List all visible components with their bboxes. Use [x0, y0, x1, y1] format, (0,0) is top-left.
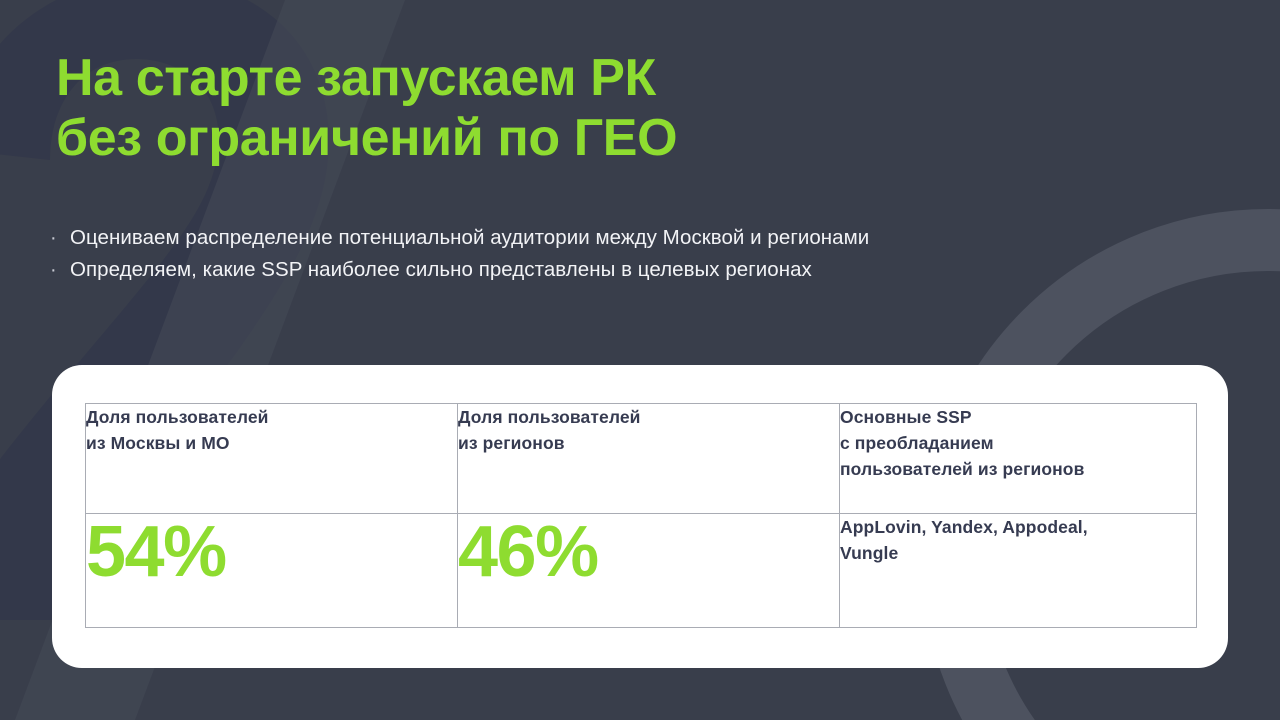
- stats-card: Доля пользователей из Москвы и МО Доля п…: [52, 365, 1228, 668]
- bullet-dot-icon: ·: [50, 254, 70, 286]
- list-item: · Определяем, какие SSP наиболее сильно …: [50, 254, 1210, 286]
- bullet-dot-icon: ·: [50, 222, 70, 254]
- stat-value-regions: 46%: [458, 514, 839, 590]
- list-item-label: Оцениваем распределение потенциальной ау…: [70, 222, 1210, 254]
- stats-table: Доля пользователей из Москвы и МО Доля п…: [85, 403, 1197, 628]
- table-row: 54% 46% AppLovin, Yandex, Appodeal, Vung…: [86, 514, 1197, 628]
- table-header-cell-main-ssp: Основные SSP с преобладанием пользовател…: [840, 404, 1197, 514]
- table-cell-moscow-share-value: 54%: [86, 514, 458, 628]
- column-header-label: Доля пользователей из регионов: [458, 404, 839, 456]
- table-cell-regions-share-value: 46%: [458, 514, 840, 628]
- ssp-list-label: AppLovin, Yandex, Appodeal, Vungle: [840, 514, 1196, 566]
- column-header-label: Основные SSP с преобладанием пользовател…: [840, 404, 1196, 482]
- table-cell-ssp-list: AppLovin, Yandex, Appodeal, Vungle: [840, 514, 1197, 628]
- table-header-cell-moscow-share: Доля пользователей из Москвы и МО: [86, 404, 458, 514]
- page-title: На старте запускаем РК без ограничений п…: [56, 48, 956, 169]
- list-item-label: Определяем, какие SSP наиболее сильно пр…: [70, 254, 1210, 286]
- stat-value-moscow: 54%: [86, 514, 457, 590]
- slide-root: На старте запускаем РК без ограничений п…: [0, 0, 1280, 720]
- bullet-list: · Оцениваем распределение потенциальной …: [50, 222, 1210, 286]
- table-header-row: Доля пользователей из Москвы и МО Доля п…: [86, 404, 1197, 514]
- list-item: · Оцениваем распределение потенциальной …: [50, 222, 1210, 254]
- column-header-label: Доля пользователей из Москвы и МО: [86, 404, 457, 456]
- table-header-cell-regions-share: Доля пользователей из регионов: [458, 404, 840, 514]
